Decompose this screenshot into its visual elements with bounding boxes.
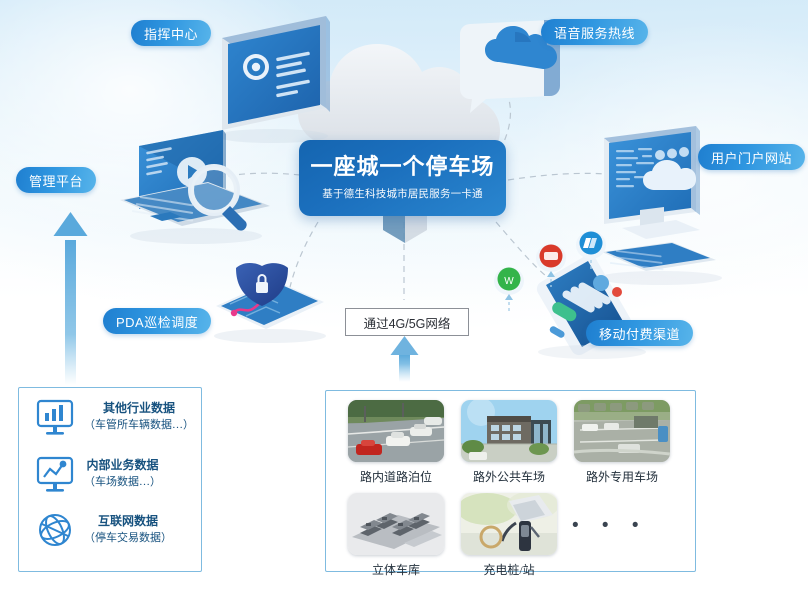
scenario-caption: 路外公共车场	[461, 468, 557, 485]
on-street-parking-photo	[348, 400, 444, 462]
globe-icon	[32, 508, 78, 552]
data-source-row[interactable]: 内部业务数据 （车场数据…）	[32, 452, 194, 496]
data-source-row[interactable]: 互联网数据 （停车交易数据）	[32, 508, 194, 552]
management-platform-laptop-illustration	[120, 130, 270, 244]
data-source-row[interactable]: 其他行业数据 （车管所车辆数据…）	[32, 395, 194, 439]
data-upward-arrow-left	[54, 212, 88, 385]
scenario-cell[interactable]: 路外专用车场	[574, 400, 670, 485]
scenario-cell[interactable]: 立体车库	[348, 493, 444, 578]
data-source-label: 互联网数据	[84, 513, 172, 530]
data-source-sublabel: （车场数据…）	[84, 475, 161, 491]
network-upward-arrow	[391, 336, 419, 382]
public-off-street-lot-photo	[461, 400, 557, 462]
pda-tablet-shield-illustration	[214, 263, 326, 343]
scenario-cell[interactable]: 路内道路泊位	[348, 400, 444, 485]
center-banner: 一座城一个停车场 基于德生科技城市居民服务一卡通	[299, 140, 506, 216]
data-source-label: 其他行业数据	[84, 400, 194, 417]
label-pda-patrol[interactable]: PDA巡检调度	[103, 308, 211, 334]
scenario-caption: 充电桩/站	[461, 561, 557, 578]
data-source-sublabel: （停车交易数据）	[84, 531, 172, 547]
scenario-caption: 立体车库	[348, 561, 444, 578]
infographic-canvas: W	[0, 0, 808, 590]
data-source-label: 内部业务数据	[84, 457, 161, 474]
label-voice-hotline[interactable]: 语音服务热线	[541, 19, 648, 45]
ev-charging-station-photo	[461, 493, 557, 555]
dedicated-off-street-lot-photo	[574, 400, 670, 462]
svg-text:W: W	[504, 276, 514, 287]
label-mobile-payment[interactable]: 移动付费渠道	[586, 320, 693, 346]
network-box: 通过4G/5G网络	[345, 308, 469, 336]
line-chart-monitor-icon	[32, 452, 78, 496]
label-command-center[interactable]: 指挥中心	[131, 20, 211, 46]
scenario-cell[interactable]: 路外公共车场	[461, 400, 557, 485]
multi-level-garage-photo	[348, 493, 444, 555]
scenario-caption: 路外专用车场	[574, 468, 670, 485]
scenarios-more-indicator: • • •	[572, 515, 648, 537]
scenario-caption: 路内道路泊位	[348, 468, 444, 485]
scenario-cell[interactable]: 充电桩/站	[461, 493, 557, 578]
banner-title: 一座城一个停车场	[310, 155, 494, 179]
banner-subtitle: 基于德生科技城市居民服务一卡通	[322, 186, 483, 201]
bar-chart-monitor-icon	[32, 395, 78, 439]
label-user-portal[interactable]: 用户门户网站	[698, 144, 805, 170]
network-box-text: 通过4G/5G网络	[364, 313, 451, 332]
label-management-platform[interactable]: 管理平台	[16, 167, 96, 193]
data-source-sublabel: （车管所车辆数据…）	[84, 418, 194, 434]
